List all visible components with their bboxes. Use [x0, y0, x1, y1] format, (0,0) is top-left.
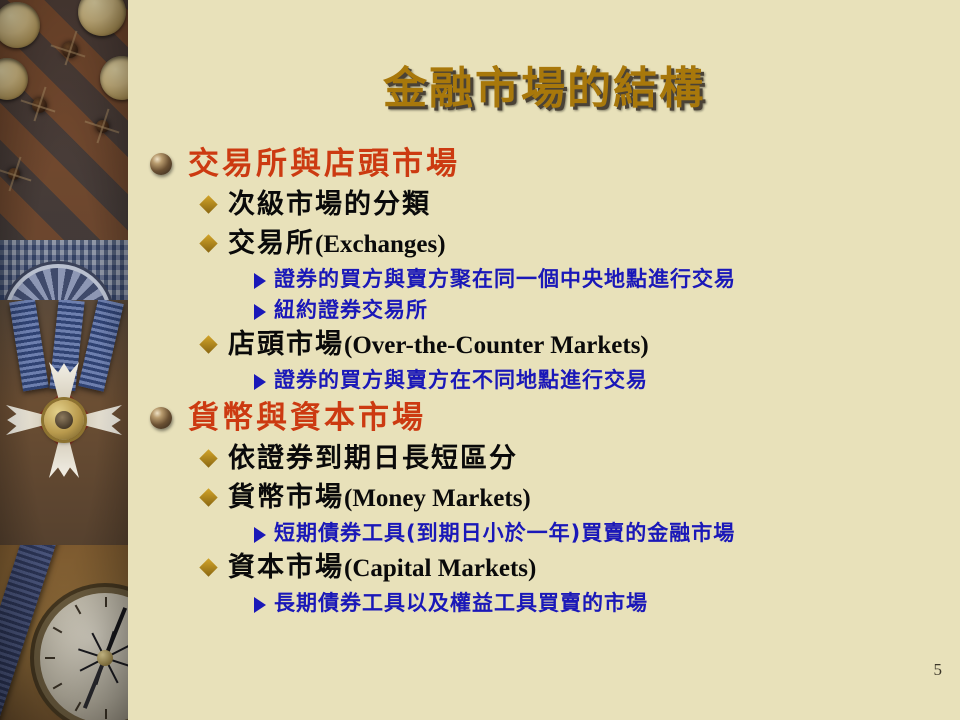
outline-text: 依證券到期日長短區分	[228, 440, 518, 479]
outline-text: 貨幣市場(Money Markets)	[228, 479, 531, 518]
outline-item-level3[interactable]: 證券的買方與賣方聚在同一個中央地點進行交易	[254, 264, 950, 295]
outline-text: 證券的買方與賣方在不同地點進行交易	[274, 365, 648, 396]
outline-item-level3[interactable]: 長期債券工具以及權益工具買賣的市場	[254, 588, 950, 619]
diamond-bullet-icon	[199, 449, 217, 467]
outline-item-level2[interactable]: 資本市場(Capital Markets)	[202, 549, 950, 588]
outline-text: 資本市場(Capital Markets)	[228, 549, 536, 588]
outline-text-cjk: 店頭市場	[228, 329, 344, 360]
triangle-bullet-icon	[254, 374, 266, 390]
diamond-bullet-icon	[199, 488, 217, 506]
outline-text: 短期債券工具(到期日小於一年)買賣的金融市場	[274, 518, 735, 549]
diamond-bullet-icon	[199, 335, 217, 353]
triangle-bullet-icon	[254, 597, 266, 613]
outline-item-level2[interactable]: 貨幣市場(Money Markets)	[202, 479, 950, 518]
outline-text: 次級市場的分類	[228, 186, 431, 225]
outline-text: 貨幣與資本市場	[188, 398, 426, 438]
slide-title: 金融市場的結構	[128, 52, 960, 116]
triangle-bullet-icon	[254, 304, 266, 320]
diamond-bullet-icon	[199, 234, 217, 252]
slide-body: 交易所與店頭市場 次級市場的分類 交易所(Exchanges) 證券的買方與賣方…	[150, 142, 950, 619]
outline-text-latin: (Over-the-Counter Markets)	[344, 332, 649, 359]
diamond-bullet-icon	[199, 558, 217, 576]
outline-text: 紐約證券交易所	[274, 295, 428, 326]
sphere-bullet-icon	[150, 153, 172, 175]
slide: 金融市場的結構 交易所與店頭市場 次級市場的分類 交易所(Exchanges) …	[0, 0, 960, 720]
outline-item-level1[interactable]: 貨幣與資本市場	[150, 398, 950, 438]
outline-text-latin: (Exchanges)	[315, 231, 446, 258]
outline-text-latin: (Capital Markets)	[344, 555, 536, 582]
outline-text-cjk: 次級市場的分類	[228, 189, 431, 220]
outline-item-level3[interactable]: 證券的買方與賣方在不同地點進行交易	[254, 365, 950, 396]
outline-text: 證券的買方與賣方聚在同一個中央地點進行交易	[274, 264, 736, 295]
outline-item-level1[interactable]: 交易所與店頭市場	[150, 144, 950, 184]
page-number: 5	[934, 660, 943, 680]
outline-text-cjk: 資本市場	[228, 552, 344, 583]
outline-text: 交易所與店頭市場	[188, 144, 460, 184]
outline-item-level2[interactable]: 店頭市場(Over-the-Counter Markets)	[202, 326, 950, 365]
outline-item-level2[interactable]: 次級市場的分類	[202, 186, 950, 225]
outline-text: 店頭市場(Over-the-Counter Markets)	[228, 326, 649, 365]
outline-text-cjk: 貨幣市場	[228, 482, 344, 513]
triangle-bullet-icon	[254, 273, 266, 289]
photo-vignette	[0, 0, 128, 720]
diamond-bullet-icon	[199, 195, 217, 213]
outline-text-cjk: 依證券到期日長短區分	[228, 443, 518, 474]
outline-item-level2[interactable]: 交易所(Exchanges)	[202, 225, 950, 264]
outline-text-latin: (Money Markets)	[344, 485, 531, 512]
outline-item-level2[interactable]: 依證券到期日長短區分	[202, 440, 950, 479]
outline-item-level3[interactable]: 紐約證券交易所	[254, 295, 950, 326]
outline-item-level3[interactable]: 短期債券工具(到期日小於一年)買賣的金融市場	[254, 518, 950, 549]
outline-text: 長期債券工具以及權益工具買賣的市場	[274, 588, 648, 619]
sphere-bullet-icon	[150, 407, 172, 429]
outline-text: 交易所(Exchanges)	[228, 225, 446, 264]
sidebar-decorative-photo	[0, 0, 128, 720]
triangle-bullet-icon	[254, 527, 266, 543]
outline-text-cjk: 交易所	[228, 228, 315, 259]
